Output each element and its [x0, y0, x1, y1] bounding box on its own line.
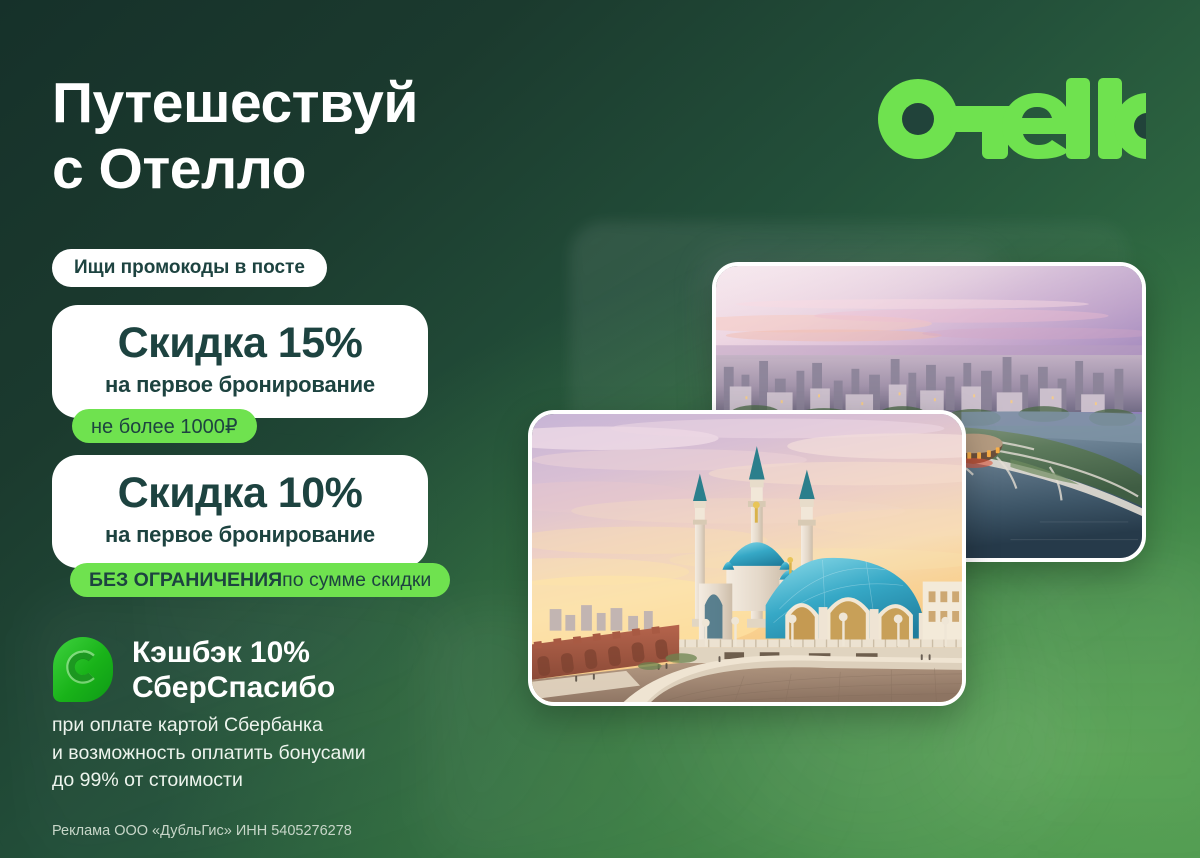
promo-banner: Путешествуй с Отелло Ищи промокоды в пос…: [0, 0, 1200, 858]
page-title: Путешествуй с Отелло: [52, 70, 522, 202]
offer-limit-label: не более 1000₽: [91, 414, 238, 439]
promo-hint-label: Ищи промокоды в посте: [74, 257, 305, 279]
offer-limit-label: по сумме скидки: [282, 569, 431, 592]
offer-subtitle: на первое бронирование: [72, 372, 408, 398]
legal-disclaimer: Реклама ООО «ДубльГис» ИНН 5405276278: [52, 823, 352, 839]
cashback-block: Кэшбэк 10% СберСпасибо: [52, 634, 335, 706]
promo-hint-badge: Ищи промокоды в посте: [52, 249, 327, 287]
cashback-title: Кэшбэк 10% СберСпасибо: [132, 634, 335, 706]
cashback-note: при оплате картой Сбербанка и возможност…: [52, 712, 366, 795]
offer-limit-emphasis: БЕЗ ОГРАНИЧЕНИЯ: [89, 569, 282, 592]
sberspasibo-logo-icon: [52, 636, 114, 702]
offer-title: Скидка 10%: [72, 471, 408, 516]
offer-card-body: Скидка 15% на первое бронирование: [52, 305, 428, 418]
offer-card-body: Скидка 10% на первое бронирование: [52, 455, 428, 568]
offer-limit-pill: БЕЗ ОГРАНИЧЕНИЯ по сумме скидки: [70, 563, 450, 597]
kul-sharif-mosque-photo[interactable]: [528, 410, 966, 706]
offer-title: Скидка 15%: [72, 321, 408, 366]
offer-subtitle: на первое бронирование: [72, 522, 408, 548]
otello-logo[interactable]: [876, 78, 1146, 165]
offer-card-10[interactable]: Скидка 10% на первое бронирование БЕЗ ОГ…: [52, 455, 428, 568]
offer-limit-pill: не более 1000₽: [72, 409, 257, 443]
offer-card-15[interactable]: Скидка 15% на первое бронирование не бол…: [52, 305, 428, 418]
